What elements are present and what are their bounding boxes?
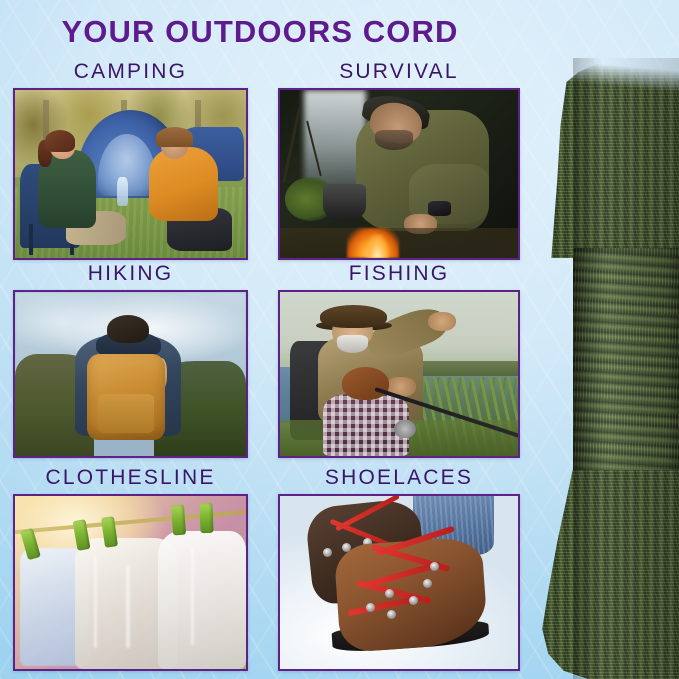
paracord-bottom-strands bbox=[527, 470, 679, 679]
use-case-shoelaces: SHOELACES bbox=[278, 466, 520, 671]
use-case-label-shoelaces: SHOELACES bbox=[278, 466, 520, 490]
use-case-photo-hiking bbox=[13, 290, 248, 458]
use-case-survival: SURVIVAL bbox=[278, 60, 520, 260]
use-case-label-clothesline: CLOTHESLINE bbox=[13, 466, 248, 490]
use-case-camping: CAMPING bbox=[13, 60, 248, 260]
use-case-photo-survival bbox=[278, 88, 520, 260]
paracord-wrapped-band bbox=[573, 248, 679, 476]
page-title: YOUR OUTDOORS CORD bbox=[0, 14, 520, 50]
use-case-photo-fishing bbox=[278, 290, 520, 458]
use-case-label-camping: CAMPING bbox=[13, 60, 248, 84]
use-case-photo-clothesline bbox=[13, 494, 248, 671]
use-case-photo-shoelaces bbox=[278, 494, 520, 671]
product-infographic: YOUR OUTDOORS CORD CAMPING bbox=[0, 0, 679, 679]
use-case-label-fishing: FISHING bbox=[278, 262, 520, 286]
use-case-label-survival: SURVIVAL bbox=[278, 60, 520, 84]
use-case-clothesline: CLOTHESLINE bbox=[13, 466, 248, 671]
use-case-hiking: HIKING bbox=[13, 262, 248, 458]
use-case-photo-camping bbox=[13, 88, 248, 260]
paracord-product-image bbox=[527, 0, 679, 679]
use-case-fishing: FISHING bbox=[278, 262, 520, 458]
use-case-label-hiking: HIKING bbox=[13, 262, 248, 286]
paracord-top-strands bbox=[527, 58, 679, 258]
